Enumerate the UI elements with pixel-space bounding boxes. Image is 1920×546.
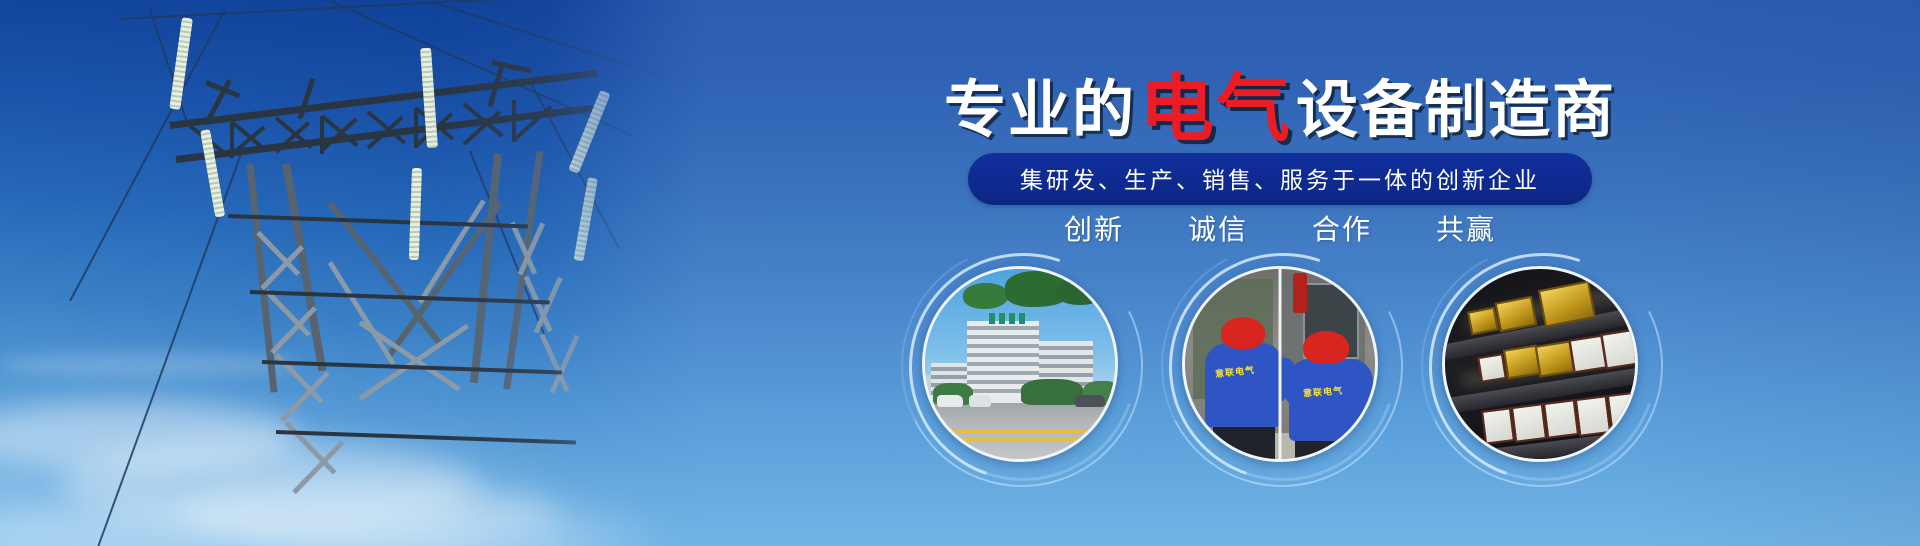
banner-content: 专业的电气设备制造商 集研发、生产、销售、服务于一体的创新企业 创新诚信合作共赢 [640, 0, 1920, 546]
keyword-item-cooperation: 合作 [1312, 208, 1372, 248]
photo-circle-honor-wall[interactable] [1442, 266, 1638, 462]
subtitle-pill: 集研发、生产、销售、服务于一体的创新企业 [968, 153, 1592, 205]
photo-circle-office-building[interactable] [922, 266, 1118, 462]
insulator-string [420, 48, 438, 149]
office-building-scene [925, 269, 1115, 459]
circle-photo-frame [922, 266, 1118, 462]
insulator-string [169, 17, 193, 110]
keyword-item-winwin: 共赢 [1436, 208, 1496, 248]
keyword-item-integrity: 诚信 [1188, 208, 1248, 248]
circle-photo-frame [1442, 266, 1638, 462]
insulator-string [568, 90, 610, 174]
circle-photo-frame: 意联电气 意联电气 [1182, 266, 1378, 462]
hard-hat-icon [1221, 317, 1265, 349]
photo-circle-row: 意联电气 意联电气 [640, 258, 1920, 498]
keyword-list: 创新诚信合作共赢 [640, 208, 1920, 248]
pylon-structure [0, 0, 700, 546]
hard-hat-icon [1303, 331, 1349, 364]
building-signage [989, 313, 1025, 324]
headline-segment-1: 专业的 [944, 76, 1136, 145]
insulator-string [573, 177, 597, 261]
page-title: 专业的电气设备制造商 [640, 72, 1920, 146]
photo-circle-workers[interactable]: 意联电气 意联电气 [1182, 266, 1378, 462]
keyword-item-innovation: 创新 [1064, 208, 1124, 248]
headline-segment-3: 设备制造商 [1296, 76, 1616, 145]
promo-banner: 专业的电气设备制造商 集研发、生产、销售、服务于一体的创新企业 创新诚信合作共赢 [0, 0, 1920, 546]
workers-installation-scene: 意联电气 意联电气 [1185, 269, 1375, 459]
insulator-string [409, 168, 422, 260]
headline-segment-highlight: 电气 [1136, 67, 1296, 150]
transmission-tower-photo [0, 0, 700, 546]
uniform-text-right: 意联电气 [1303, 384, 1344, 400]
honor-wall-scene [1445, 269, 1635, 459]
